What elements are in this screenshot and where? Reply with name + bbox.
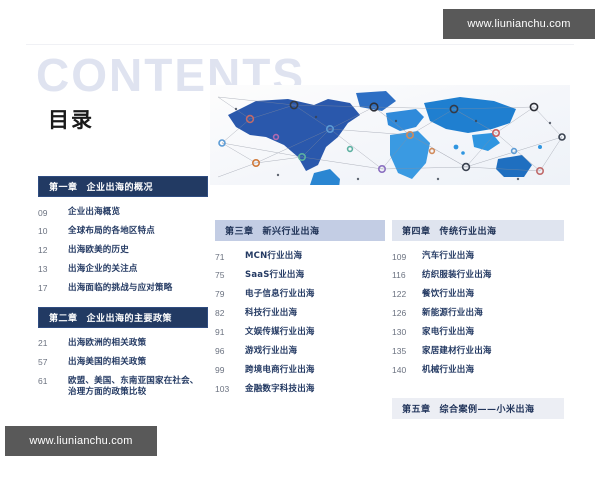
chapter-number: 第二章 [49,311,78,324]
list-item[interactable]: 10 全球布局的各地区特点 [38,226,208,238]
chapter-number: 第一章 [49,180,78,193]
list-item[interactable]: 17 出海面临的挑战与应对策略 [38,283,208,295]
entry-page-number: 135 [392,346,422,358]
spacer [392,384,564,398]
list-item[interactable]: 75 SaaS行业出海 [215,270,385,282]
entry-title: 汽车行业出海 [422,251,474,262]
entry-title: 科技行业出海 [245,308,297,319]
chapter-title: 新兴行业出海 [263,224,320,237]
entry-page-number: 10 [38,226,68,238]
entry-title: 新能源行业出海 [422,308,483,319]
entry-page-number: 12 [38,245,68,257]
entry-page-number: 09 [38,207,68,219]
entry-page-number: 103 [215,384,245,396]
world-map-network-graphic [210,85,570,185]
chapter-header-5[interactable]: 第五章 综合案例——小米出海 [392,398,564,419]
entry-title: 出海面临的挑战与应对策略 [68,283,172,294]
chapter-header-4[interactable]: 第四章 传统行业出海 [392,220,564,241]
contents-slide: CONTENTS 目录 [0,0,600,480]
entry-page-number: 13 [38,264,68,276]
entry-title: 出海欧洲的相关政策 [68,338,146,349]
entry-title: MCN行业出海 [245,251,302,262]
list-item[interactable]: 71 MCN行业出海 [215,251,385,263]
entry-page-number: 140 [392,365,422,377]
entry-title: 欧盟、美国、东南亚国家在社会、治理方面的政策比较 [68,376,200,399]
list-item[interactable]: 116 纺织服装行业出海 [392,270,564,282]
page-title: 目录 [48,104,94,134]
entry-list-1: 09 企业出海概览 10 全球布局的各地区特点 12 出海欧美的历史 13 出海… [38,207,208,295]
entry-page-number: 99 [215,365,245,377]
entry-page-number: 21 [38,338,68,350]
list-item[interactable]: 140 机械行业出海 [392,365,564,377]
entry-list-4: 109 汽车行业出海 116 纺织服装行业出海 122 餐饮行业出海 126 新… [392,251,564,377]
list-item[interactable]: 109 汽车行业出海 [392,251,564,263]
entry-title: 全球布局的各地区特点 [68,226,155,237]
list-item[interactable]: 99 跨境电商行业出海 [215,365,385,377]
list-item[interactable]: 135 家居建材行业出海 [392,346,564,358]
chapter-header-2[interactable]: 第二章 企业出海的主要政策 [38,307,208,328]
entry-page-number: 17 [38,283,68,295]
entry-list-3: 71 MCN行业出海 75 SaaS行业出海 79 电子信息行业出海 82 科技… [215,251,385,396]
entry-page-number: 91 [215,327,245,339]
column-middle: 第三章 新兴行业出海 71 MCN行业出海 75 SaaS行业出海 79 电子信… [215,220,385,403]
watermark-top: www.liunianchu.com [443,9,595,39]
list-item[interactable]: 57 出海美国的相关政策 [38,357,208,369]
entry-page-number: 116 [392,270,422,282]
entry-title: 跨境电商行业出海 [245,365,315,376]
entry-title: SaaS行业出海 [245,270,304,281]
entry-title: 家居建材行业出海 [422,346,492,357]
entry-title: 出海企业的关注点 [68,264,138,275]
column-right: 第四章 传统行业出海 109 汽车行业出海 116 纺织服装行业出海 122 餐… [392,220,564,419]
chapter-header-3[interactable]: 第三章 新兴行业出海 [215,220,385,241]
chapter-number: 第三章 [225,224,254,237]
entry-title: 纺织服装行业出海 [422,270,492,281]
entry-title: 出海美国的相关政策 [68,357,146,368]
list-item[interactable]: 79 电子信息行业出海 [215,289,385,301]
list-item[interactable]: 61 欧盟、美国、东南亚国家在社会、治理方面的政策比较 [38,376,208,399]
list-item[interactable]: 82 科技行业出海 [215,308,385,320]
entry-title: 企业出海概览 [68,207,120,218]
entry-title: 机械行业出海 [422,365,474,376]
entry-title: 电子信息行业出海 [245,289,315,300]
list-item[interactable]: 122 餐饮行业出海 [392,289,564,301]
entry-page-number: 122 [392,289,422,301]
chapter-header-1[interactable]: 第一章 企业出海的概况 [38,176,208,197]
entry-page-number: 57 [38,357,68,369]
entry-page-number: 79 [215,289,245,301]
list-item[interactable]: 91 文娱传媒行业出海 [215,327,385,339]
entry-title: 家电行业出海 [422,327,474,338]
list-item[interactable]: 126 新能源行业出海 [392,308,564,320]
entry-page-number: 71 [215,251,245,263]
list-item[interactable]: 21 出海欧洲的相关政策 [38,338,208,350]
list-item[interactable]: 103 金融数字科技出海 [215,384,385,396]
list-item[interactable]: 13 出海企业的关注点 [38,264,208,276]
entry-page-number: 126 [392,308,422,320]
top-divider [26,44,574,45]
chapter-number: 第五章 [402,402,431,415]
list-item[interactable]: 12 出海欧美的历史 [38,245,208,257]
entry-title: 文娱传媒行业出海 [245,327,315,338]
watermark-bottom: www.liunianchu.com [5,426,157,456]
entry-page-number: 96 [215,346,245,358]
entry-page-number: 82 [215,308,245,320]
chapter-title: 综合案例——小米出海 [440,402,535,415]
entry-title: 金融数字科技出海 [245,384,315,395]
chapter-number: 第四章 [402,224,431,237]
chapter-title: 传统行业出海 [440,224,497,237]
list-item[interactable]: 130 家电行业出海 [392,327,564,339]
entry-page-number: 75 [215,270,245,282]
entry-page-number: 61 [38,376,68,388]
entry-title: 餐饮行业出海 [422,289,474,300]
list-item[interactable]: 09 企业出海概览 [38,207,208,219]
chapter-title: 企业出海的概况 [87,180,154,193]
column-left: 第一章 企业出海的概况 09 企业出海概览 10 全球布局的各地区特点 12 出… [38,176,208,406]
entry-title: 游戏行业出海 [245,346,297,357]
entry-title: 出海欧美的历史 [68,245,129,256]
entry-page-number: 109 [392,251,422,263]
chapter-title: 企业出海的主要政策 [87,311,173,324]
entry-page-number: 130 [392,327,422,339]
entry-list-2: 21 出海欧洲的相关政策 57 出海美国的相关政策 61 欧盟、美国、东南亚国家… [38,338,208,399]
list-item[interactable]: 96 游戏行业出海 [215,346,385,358]
